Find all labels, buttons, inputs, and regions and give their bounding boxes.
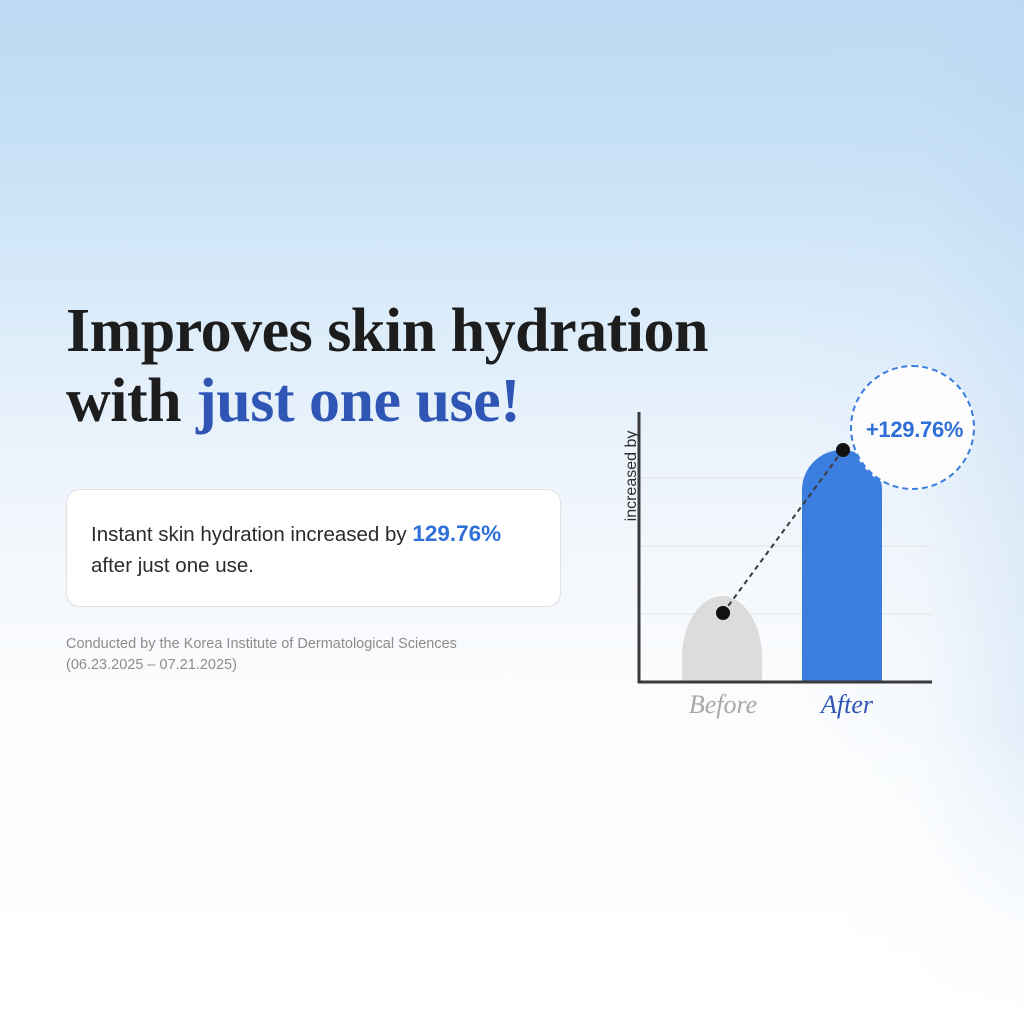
- x-axis-label-after: After: [777, 690, 917, 720]
- callout-value: 129.76%: [412, 521, 501, 546]
- headline-accent: just one use!: [196, 367, 520, 435]
- percentage-badge: +129.76%: [850, 365, 975, 490]
- callout-text-before: Instant skin hydration increased by: [91, 523, 412, 546]
- footnote-line-1: Conducted by the Korea Institute of Derm…: [66, 634, 586, 655]
- callout-text: Instant skin hydration increased by 129.…: [91, 518, 541, 581]
- promo-graphic: Improves skin hydration with just one us…: [0, 0, 1024, 1024]
- footnote-line-2: (06.23.2025 – 07.21.2025): [66, 655, 586, 676]
- data-point-after: [836, 443, 850, 457]
- callout-text-after: after just one use.: [91, 554, 254, 577]
- headline-line-1: Improves skin hydration: [66, 296, 826, 366]
- chart-gridlines: [639, 478, 932, 614]
- background-bottom-fade: [0, 724, 1024, 1024]
- percentage-badge-label: +129.76%: [852, 367, 977, 492]
- bar-chart: increased by Before After +129.76%: [596, 362, 996, 732]
- headline-line-2-plain: with: [66, 367, 196, 435]
- data-point-before: [716, 606, 730, 620]
- footnote: Conducted by the Korea Institute of Derm…: [66, 634, 586, 675]
- callout-box: Instant skin hydration increased by 129.…: [66, 489, 561, 607]
- y-axis-label: increased by: [623, 416, 641, 536]
- x-axis-label-before: Before: [653, 690, 793, 720]
